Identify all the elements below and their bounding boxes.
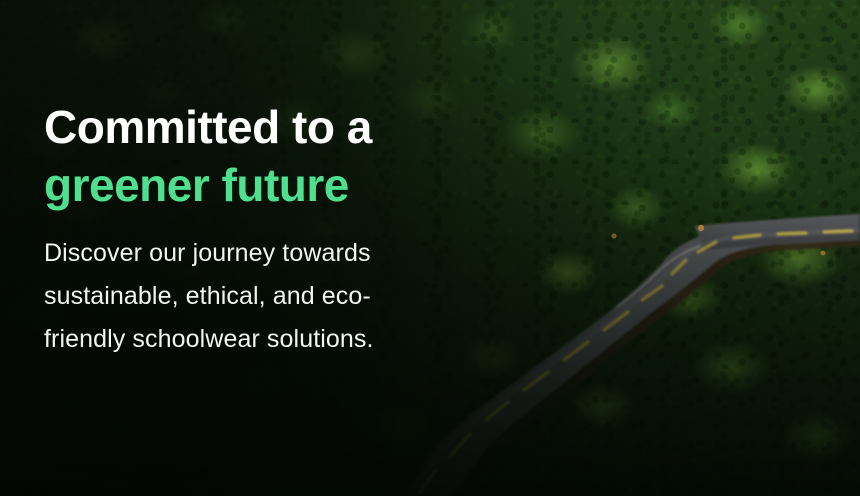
hero-banner: Committed to a greener future Discover o…: [0, 0, 860, 496]
hero-copy-block: Committed to a greener future Discover o…: [44, 98, 514, 361]
subcopy-line-1: Discover our journey towards: [44, 232, 514, 275]
headline-line-primary: Committed to a: [44, 98, 514, 156]
subcopy-line-2: sustainable, ethical, and eco-: [44, 275, 514, 318]
headline-line-accent: greener future: [44, 156, 514, 214]
hero-subcopy: Discover our journey towards sustainable…: [44, 232, 514, 361]
subcopy-line-3: friendly schoolwear solutions.: [44, 318, 514, 361]
hero-headline: Committed to a greener future: [44, 98, 514, 214]
